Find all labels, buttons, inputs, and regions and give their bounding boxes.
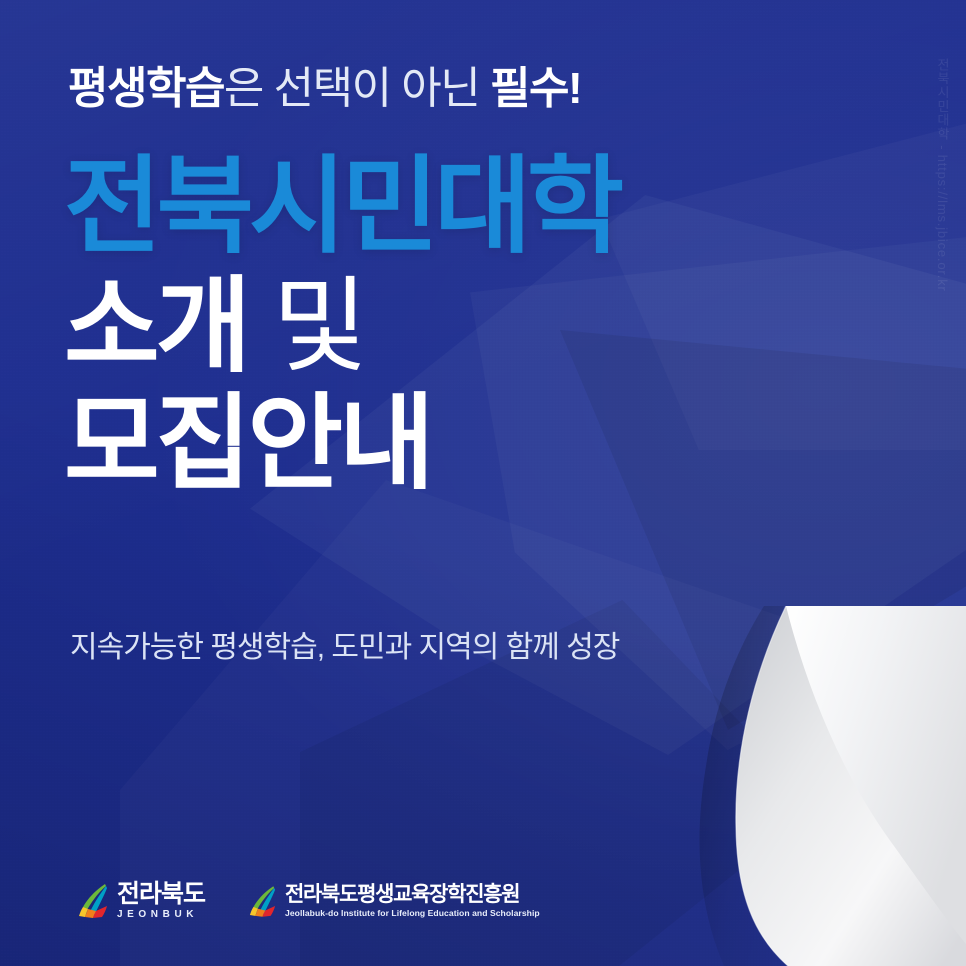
logo-row: 전라북도 JEONBUK 전라북도평생교육장학진흥원 Jeollabuk-do …	[78, 882, 540, 920]
logo-jbice-text: 전라북도평생교육장학진흥원 Jeollabuk-do Institute for…	[285, 884, 540, 918]
subtitle: 지속가능한 평생학습, 도민과 지역의 함께 성장	[70, 622, 619, 666]
logo-jeonbuk: 전라북도 JEONBUK	[78, 882, 205, 920]
logo-jeonbuk-korean: 전라북도	[117, 882, 205, 907]
tagline-strong-tail: 필수!	[490, 64, 581, 113]
logo-jbice-english: Jeollabuk-do Institute for Lifelong Educ…	[285, 909, 540, 918]
jeonbuk-wing-emblem-icon	[78, 883, 108, 919]
headline-line-3: 모집안내	[64, 387, 619, 501]
tagline-strong-lead: 평생학습	[68, 64, 224, 113]
headline-line2-bold: 소개	[64, 269, 247, 385]
headline-line-2: 소개 및	[64, 270, 619, 384]
logo-jeonbuk-english: JEONBUK	[117, 910, 205, 920]
poster-content: 평생학습은 선택이 아닌 필수! 전북시민대학 소개 및 모집안내 지속가능한 …	[68, 0, 868, 966]
jbice-wing-emblem-icon	[249, 885, 276, 918]
logo-jeonbuk-text: 전라북도 JEONBUK	[117, 882, 205, 920]
logo-jbice-korean: 전라북도평생교육장학진흥원	[285, 884, 540, 905]
tagline: 평생학습은 선택이 아닌 필수!	[68, 66, 581, 112]
logo-jbice: 전라북도평생교육장학진흥원 Jeollabuk-do Institute for…	[249, 884, 540, 918]
page-title: 전북시민대학	[64, 150, 619, 264]
tagline-light-middle: 은 선택이 아닌	[224, 64, 490, 113]
headline-block: 전북시민대학 소개 및 모집안내	[64, 150, 619, 501]
source-watermark: 전북시민대학 - https://lms.jbice.or.kr	[933, 58, 952, 292]
headline-line2-thin: 및	[247, 269, 364, 385]
poster-canvas: 전북시민대학 - https://lms.jbice.or.kr 평생학습은 선…	[0, 0, 966, 966]
